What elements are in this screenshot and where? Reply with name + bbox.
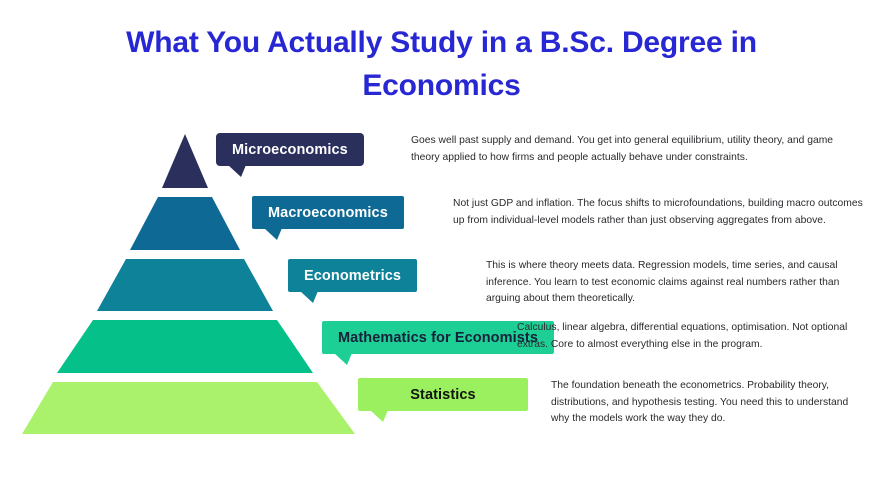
pyramid-tier-3-econometrics xyxy=(97,259,273,311)
callout-label-mathematics-for-economists: Mathematics for Economists xyxy=(338,330,538,346)
callout-tail-icon xyxy=(334,353,352,365)
callout-tail-icon xyxy=(264,228,282,240)
page-title: What You Actually Study in a B.Sc. Degre… xyxy=(0,22,883,107)
callout-statistics[interactable]: Statistics xyxy=(358,378,528,411)
pyramid-tier-4-mathematics xyxy=(57,320,313,373)
description-statistics: The foundation beneath the econometrics.… xyxy=(551,378,866,428)
pyramid-tier-2-macroeconomics xyxy=(130,197,240,250)
callout-tail-icon xyxy=(228,165,246,177)
callout-label-statistics: Statistics xyxy=(410,387,475,403)
description-macroeconomics: Not just GDP and inflation. The focus sh… xyxy=(453,196,865,229)
callout-tail-icon xyxy=(370,410,388,422)
pyramid-tier-5-statistics xyxy=(22,382,355,434)
infographic-canvas: What You Actually Study in a B.Sc. Degre… xyxy=(0,0,883,497)
description-mathematics-for-economists: Calculus, linear algebra, differential e… xyxy=(517,320,862,353)
description-econometrics: This is where theory meets data. Regress… xyxy=(486,258,854,308)
callout-econometrics[interactable]: Econometrics xyxy=(288,259,417,292)
callout-label-macroeconomics: Macroeconomics xyxy=(268,205,388,221)
callout-label-econometrics: Econometrics xyxy=(304,268,401,284)
callout-macroeconomics[interactable]: Macroeconomics xyxy=(252,196,404,229)
callout-label-microeconomics: Microeconomics xyxy=(232,142,348,158)
callout-tail-icon xyxy=(300,291,318,303)
pyramid-tier-1-microeconomics xyxy=(162,134,208,188)
callout-microeconomics[interactable]: Microeconomics xyxy=(216,133,364,166)
description-microeconomics: Goes well past supply and demand. You ge… xyxy=(411,133,863,166)
